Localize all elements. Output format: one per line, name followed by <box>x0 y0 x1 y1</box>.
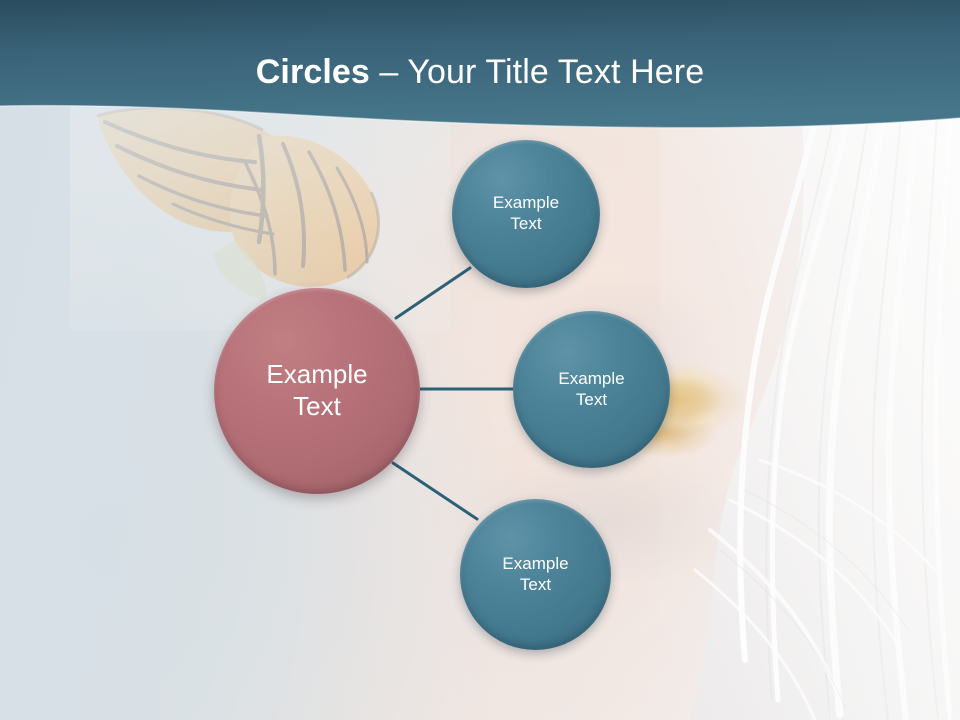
page-title-light: – Your Title Text Here <box>370 53 704 91</box>
hub-circle-label-line2: Text <box>266 391 367 423</box>
page-title: Circles – Your Title Text Here <box>0 52 960 92</box>
spoke-circle-1-label-line1: Example <box>493 193 559 214</box>
spoke-circle-2-label-line1: Example <box>558 369 624 390</box>
spoke-circle-1[interactable]: Example Text <box>452 140 600 288</box>
spoke-circle-3[interactable]: Example Text <box>460 499 611 650</box>
spoke-circle-2[interactable]: Example Text <box>513 311 670 468</box>
hub-circle-label: Example Text <box>258 359 375 422</box>
spoke-circle-3-label-line1: Example <box>502 554 568 575</box>
spoke-circle-1-label-line2: Text <box>493 214 559 235</box>
page-title-strong: Circles <box>256 53 370 91</box>
spoke-circle-1-label: Example Text <box>485 193 567 234</box>
hub-circle[interactable]: Example Text <box>214 288 420 494</box>
spoke-circle-2-label: Example Text <box>550 369 632 410</box>
hub-circle-label-line1: Example <box>266 359 367 391</box>
slide-canvas: Circles – Your Title Text Here Example T… <box>0 0 960 720</box>
spoke-circle-3-label-line2: Text <box>502 575 568 596</box>
spoke-circle-2-label-line2: Text <box>558 390 624 411</box>
spoke-circle-3-label: Example Text <box>494 554 576 595</box>
